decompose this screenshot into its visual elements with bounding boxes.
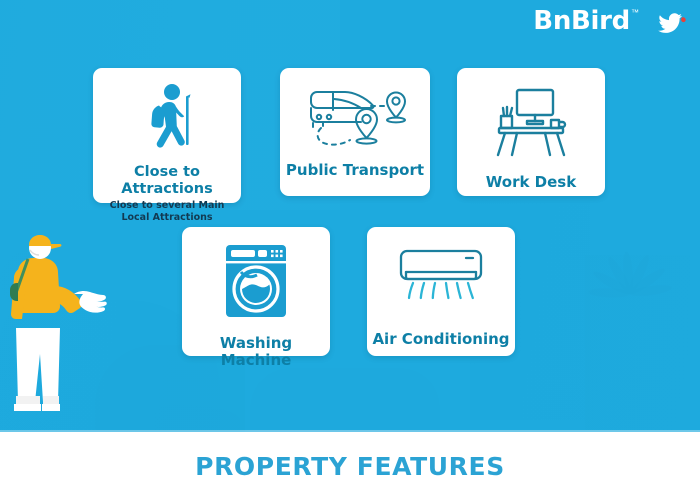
air-conditioner-icon [395, 245, 487, 311]
brand-logo[interactable]: BnBird ™ [533, 8, 686, 36]
card-title: Washing Machine [182, 335, 330, 370]
card-title: Work Desk [486, 174, 576, 191]
bus-route-pin-icon [301, 82, 409, 148]
slide-canvas: BnBird ™ Close to Attractions Cl [0, 0, 700, 500]
card-title: Public Transport [286, 162, 424, 179]
card-title: Air Conditioning [372, 331, 509, 348]
washing-machine-icon [220, 241, 292, 321]
bird-icon [646, 8, 686, 36]
hiker-icon [131, 82, 203, 156]
feature-card-desk[interactable]: Work Desk [457, 68, 605, 196]
desk-monitor-icon [487, 84, 575, 158]
card-title: Close to Attractions [93, 164, 241, 197]
feature-card-attractions[interactable]: Close to Attractions Close to several Ma… [93, 68, 241, 203]
person-waving-illustration [0, 232, 120, 432]
brand-name: BnBird [533, 8, 630, 34]
trademark-symbol: ™ [631, 8, 639, 17]
feature-card-washing[interactable]: Washing Machine [182, 227, 330, 356]
card-subtitle: Close to several Main Local Attractions [93, 200, 241, 224]
feature-card-transport[interactable]: Public Transport [280, 68, 430, 196]
footer-band: PROPERTY FEATURES [0, 432, 700, 500]
page-title: PROPERTY FEATURES [195, 452, 505, 481]
feature-card-ac[interactable]: Air Conditioning [367, 227, 515, 356]
